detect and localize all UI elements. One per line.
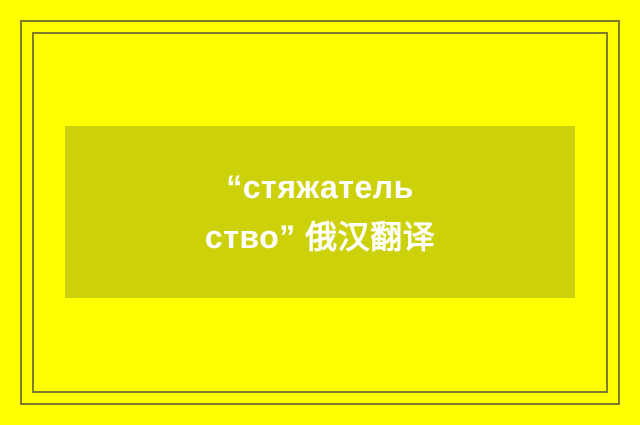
title-line-2: ство” 俄汉翻译 — [205, 212, 435, 262]
title-line-1: “стяжатель — [226, 162, 413, 212]
thumbnail-canvas: “стяжатель ство” 俄汉翻译 — [0, 0, 640, 425]
title-plate: “стяжатель ство” 俄汉翻译 — [65, 126, 575, 298]
